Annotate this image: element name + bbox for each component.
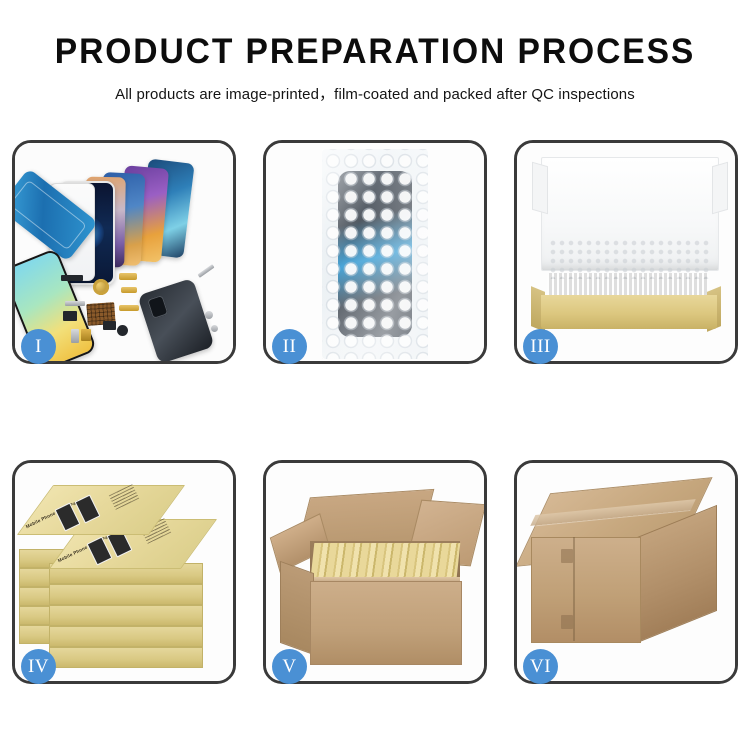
- open-mailer-scene: [517, 143, 735, 361]
- panel-6-image: [517, 463, 735, 681]
- spare-part-flex-cable: [119, 273, 137, 280]
- panel-2-image: [266, 143, 484, 361]
- spare-part-ic-chip: [103, 321, 116, 330]
- panel-5-image: [266, 463, 484, 681]
- process-step-panel-1: I: [12, 140, 236, 364]
- spare-part-speaker: [81, 329, 91, 341]
- plastic-sheen: [322, 149, 428, 359]
- spare-part-antenna: [119, 305, 139, 311]
- process-step-panel-4: Mobile Phone Spare Parts Mobile Phone Sp…: [12, 460, 236, 684]
- open-carton-scene: [266, 463, 484, 681]
- lid-tab-left: [532, 162, 548, 215]
- process-step-panel-3: III: [514, 140, 738, 364]
- stacked-box-front-2: [49, 584, 203, 605]
- step-badge-6: VI: [523, 649, 558, 684]
- page-subtitle: All products are image-printed，film-coat…: [6, 82, 745, 104]
- spare-part-button: [71, 329, 79, 343]
- sealed-carton-scene: [517, 463, 735, 681]
- panel-1-image: [15, 143, 233, 361]
- spare-part-camera: [63, 311, 77, 321]
- bubble-wrap-scene: [266, 143, 484, 361]
- stacked-box-front-4: [49, 626, 203, 647]
- bubble-wrap-sleeve: [322, 149, 428, 359]
- step-badge-1: I: [21, 329, 56, 364]
- process-step-grid: I II: [12, 140, 738, 684]
- spare-part-lens: [117, 325, 128, 336]
- step-badge-2: II: [272, 329, 307, 364]
- spare-part-flex-cable-2: [121, 287, 137, 293]
- carton-front-face: [531, 537, 641, 643]
- process-step-panel-6: VI: [514, 460, 738, 684]
- spare-part-bracket: [65, 301, 85, 306]
- carton-front-wall: [310, 581, 462, 665]
- panel-4-image: Mobile Phone Spare Parts Mobile Phone Sp…: [15, 463, 233, 681]
- stacked-box-front-5: [49, 647, 203, 668]
- carton-side-left: [280, 561, 314, 655]
- lid-tab-right: [712, 162, 728, 215]
- phone-screens-scene: [15, 143, 233, 361]
- carton-seam: [573, 537, 575, 641]
- box-stack-scene: Mobile Phone Spare Parts Mobile Phone Sp…: [15, 463, 233, 681]
- spare-part-connector: [61, 275, 83, 281]
- header: PRODUCT PREPARATION PROCESS All products…: [0, 0, 750, 104]
- carton-notch-lower: [561, 615, 573, 629]
- panel-3-image: [517, 143, 735, 361]
- page-title: PRODUCT PREPARATION PROCESS: [15, 34, 735, 71]
- mailer-front-wall: [541, 295, 717, 329]
- stacked-box-front-3: [49, 605, 203, 626]
- process-step-panel-2: II: [263, 140, 487, 364]
- step-badge-4: IV: [21, 649, 56, 684]
- vibration-motor-part: [93, 279, 109, 295]
- spare-part-screw-a: [205, 311, 213, 319]
- step-badge-3: III: [523, 329, 558, 364]
- carton-notch-upper: [561, 549, 573, 563]
- spare-part-screw-b: [211, 325, 218, 332]
- process-step-panel-5: V: [263, 460, 487, 684]
- step-badge-5: V: [272, 649, 307, 684]
